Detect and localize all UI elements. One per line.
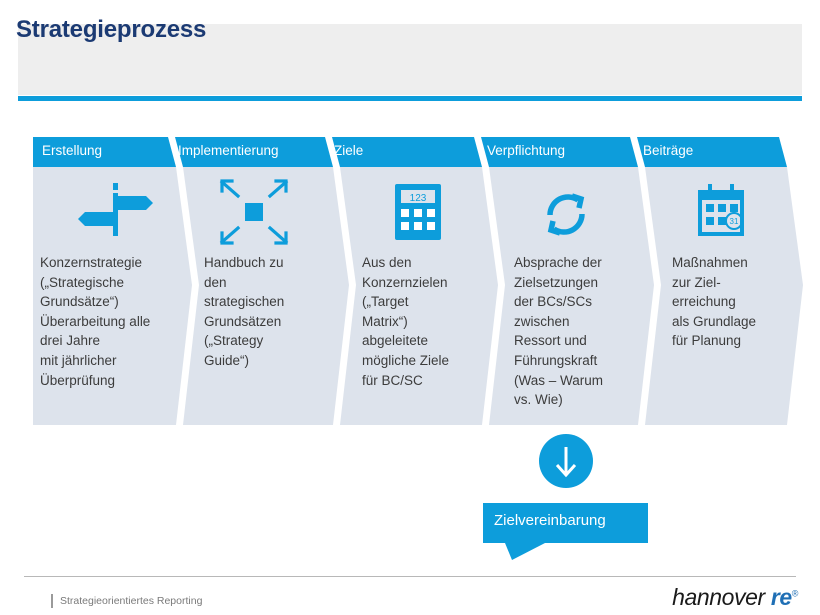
step-body-text-1: Konzernstrategie („Strategische Grundsät… (40, 253, 190, 390)
hannover-re-logo: hannover re® (672, 584, 798, 611)
step-header-label-3: Ziele (334, 143, 363, 158)
logo-word-hannover: hannover (672, 584, 771, 610)
step-header-label-1: Erstellung (42, 143, 102, 158)
calendar-day-number: 31 (730, 217, 739, 226)
footer-label: Strategieorientiertes Reporting (60, 595, 202, 607)
step-body-text-5: Maßnahmen zur Ziel- erreichung als Grund… (672, 253, 794, 351)
calculator-display-text: 123 (410, 193, 427, 204)
step-header-label-2: Implementierung (178, 143, 279, 158)
calendar-icon: 31 (698, 184, 744, 236)
step-body-text-4: Absprache der Zielsetzungen der BCs/SCs … (514, 253, 638, 410)
expand-arrows-icon (222, 181, 286, 243)
page-title: Strategieprozess (16, 16, 206, 44)
step-body-text-2: Handbuch zu den strategischen Grundsätze… (204, 253, 324, 371)
signpost-icon (78, 183, 153, 236)
step-header-label-4: Verpflichtung (487, 143, 565, 158)
logo-word-re: re (771, 584, 792, 610)
calculator-icon: 123 (395, 184, 441, 240)
arrow-down-circle-icon[interactable] (539, 434, 593, 488)
logo-registered-mark: ® (792, 588, 798, 598)
sync-arrows-icon (550, 196, 582, 233)
step-body-text-3: Aus den Konzernzielen („Target Matrix“) … (362, 253, 480, 390)
footer-tick-mark (51, 594, 53, 608)
step-header-label-5: Beiträge (643, 143, 693, 158)
title-underline-rule (18, 96, 802, 101)
footer-divider (24, 576, 796, 577)
callout-label: Zielvereinbarung (494, 512, 606, 529)
